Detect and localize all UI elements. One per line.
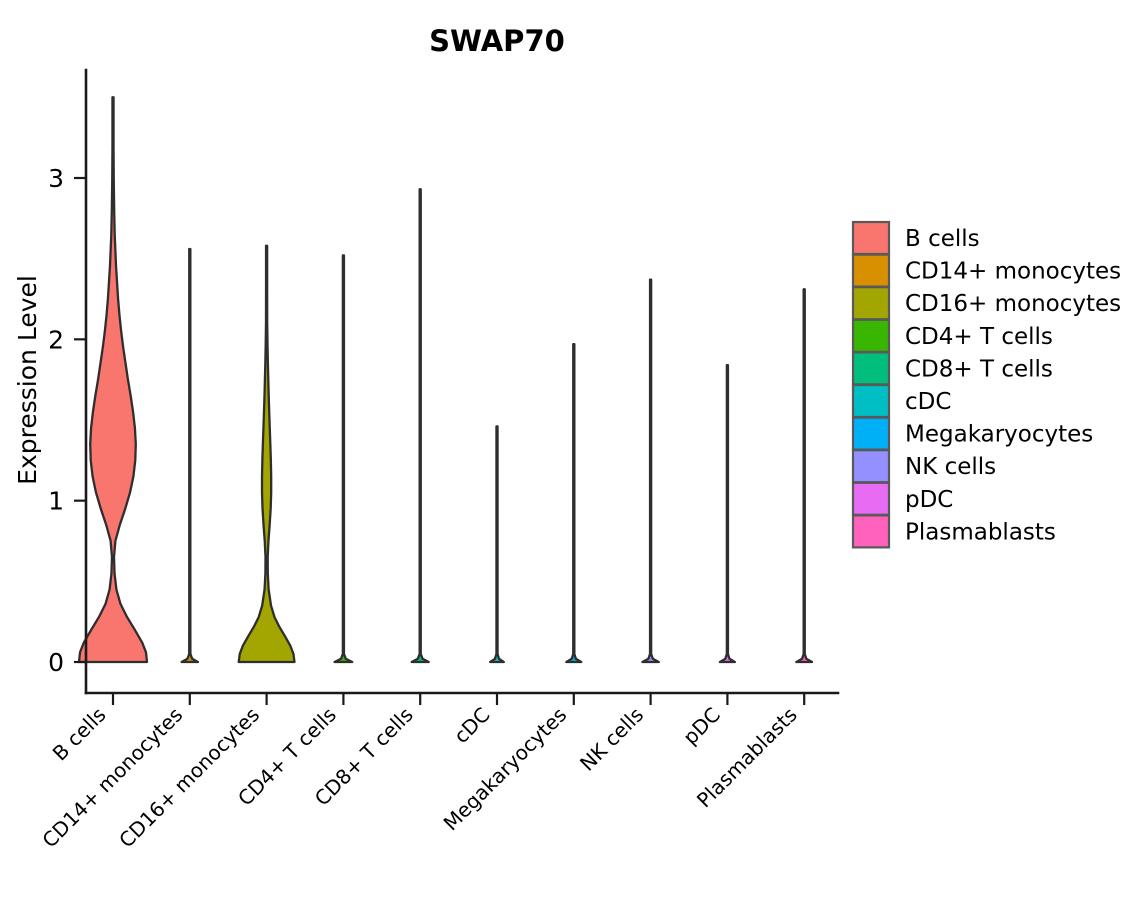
legend-label: CD16+ monocytes (905, 291, 1121, 317)
legend-swatch (853, 222, 889, 254)
legend-item-cd4-t-cells[interactable]: CD4+ T cells (853, 320, 1053, 352)
y-tick-label: 2 (48, 325, 64, 354)
legend-label: CD8+ T cells (905, 356, 1053, 382)
legend-label: Plasmablasts (905, 519, 1056, 545)
legend-item-megakaryocytes[interactable]: Megakaryocytes (853, 418, 1093, 450)
legend-label: pDC (905, 487, 953, 513)
violin-plot-figure: SWAP70 0123 B cellsCD14+ monocytesCD16+ … (0, 0, 1140, 900)
legend-swatch (853, 385, 889, 417)
legend-swatch (853, 418, 889, 450)
legend-label: Megakaryocytes (905, 422, 1093, 448)
legend-item-plasmablasts[interactable]: Plasmablasts (853, 515, 1056, 547)
y-axis-title: Expression Level (13, 275, 42, 485)
legend-label: cDC (905, 389, 951, 415)
y-tick-label: 1 (48, 487, 64, 516)
y-tick-label: 3 (48, 164, 64, 193)
legend-swatch (853, 255, 889, 287)
legend-label: NK cells (905, 454, 996, 480)
legend-item-b-cells[interactable]: B cells (853, 222, 980, 254)
legend-swatch (853, 320, 889, 352)
legend-swatch (853, 287, 889, 319)
figure-background (0, 0, 1140, 900)
legend-swatch (853, 352, 889, 384)
legend-swatch (853, 515, 889, 547)
legend-label: CD4+ T cells (905, 324, 1053, 350)
legend-label: B cells (905, 226, 980, 252)
legend-item-cd8-t-cells[interactable]: CD8+ T cells (853, 352, 1053, 384)
legend-item-nk-cells[interactable]: NK cells (853, 450, 996, 482)
chart-title: SWAP70 (429, 24, 565, 58)
y-tick-label: 0 (48, 648, 64, 677)
legend-swatch (853, 450, 889, 482)
legend-swatch (853, 483, 889, 515)
violin-chart-canvas: SWAP70 0123 B cellsCD14+ monocytesCD16+ … (0, 0, 1140, 900)
legend-label: CD14+ monocytes (905, 259, 1121, 285)
